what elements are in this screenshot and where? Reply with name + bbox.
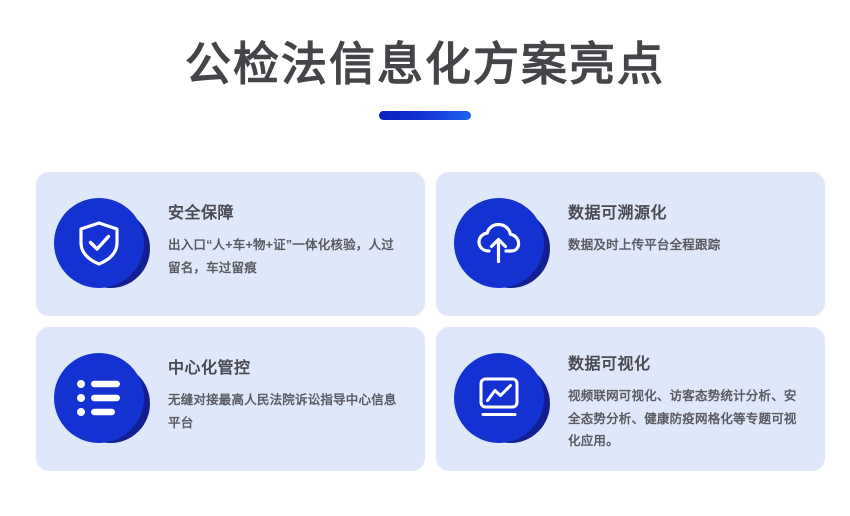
highlights-card-grid: 安全保障 出入口“人+车+物+证”一体化核验，人过留名，车过留痕 数据可溯源化 … [36, 172, 814, 471]
highlight-card-security[interactable]: 安全保障 出入口“人+车+物+证”一体化核验，人过留名，车过留痕 [36, 172, 425, 316]
card-title: 数据可视化 [568, 355, 803, 374]
highlight-card-centralized-control[interactable]: 中心化管控 无缝对接最高人民法院诉讼指导中心信息平台 [36, 327, 425, 471]
page-title: 公检法信息化方案亮点 [0, 38, 850, 91]
card-title: 数据可溯源化 [568, 204, 803, 223]
card-title: 安全保障 [168, 204, 403, 223]
card-description: 无缝对接最高人民法院诉讼指导中心信息平台 [168, 389, 403, 434]
card-text-block: 安全保障 出入口“人+车+物+证”一体化核验，人过留名，车过留痕 [150, 196, 403, 279]
medallion-disc [454, 198, 544, 288]
card-title: 中心化管控 [168, 359, 403, 378]
medallion-disc [454, 353, 544, 443]
icon-medallion [54, 198, 150, 294]
icon-medallion [54, 353, 150, 449]
card-description: 视频联网可视化、访客态势统计分析、安全态势分析、健康防疫网格化等专题可视化应用。 [568, 385, 803, 453]
card-text-block: 中心化管控 无缝对接最高人民法院诉讼指导中心信息平台 [150, 351, 403, 434]
shield-check-icon [77, 219, 121, 267]
title-underline-accent [379, 111, 471, 120]
card-text-block: 数据可视化 视频联网可视化、访客态势统计分析、安全态势分析、健康防疫网格化等专题… [550, 351, 803, 453]
page-root: 公检法信息化方案亮点 安全保障 出入口“人+车+物+证”一体化核验，人过留名，车… [0, 0, 850, 516]
chart-monitor-icon [476, 376, 522, 420]
card-description: 出入口“人+车+物+证”一体化核验，人过留名，车过留痕 [168, 234, 403, 279]
icon-medallion [454, 353, 550, 449]
card-description: 数据及时上传平台全程跟踪 [568, 234, 803, 257]
highlight-card-data-traceability[interactable]: 数据可溯源化 数据及时上传平台全程跟踪 [436, 172, 825, 316]
bullet-list-icon [76, 379, 122, 417]
page-header: 公检法信息化方案亮点 [0, 0, 850, 120]
cloud-upload-icon [475, 221, 523, 265]
card-text-block: 数据可溯源化 数据及时上传平台全程跟踪 [550, 196, 803, 257]
medallion-disc [54, 198, 144, 288]
icon-medallion [454, 198, 550, 294]
highlight-card-data-visualization[interactable]: 数据可视化 视频联网可视化、访客态势统计分析、安全态势分析、健康防疫网格化等专题… [436, 327, 825, 471]
medallion-disc [54, 353, 144, 443]
